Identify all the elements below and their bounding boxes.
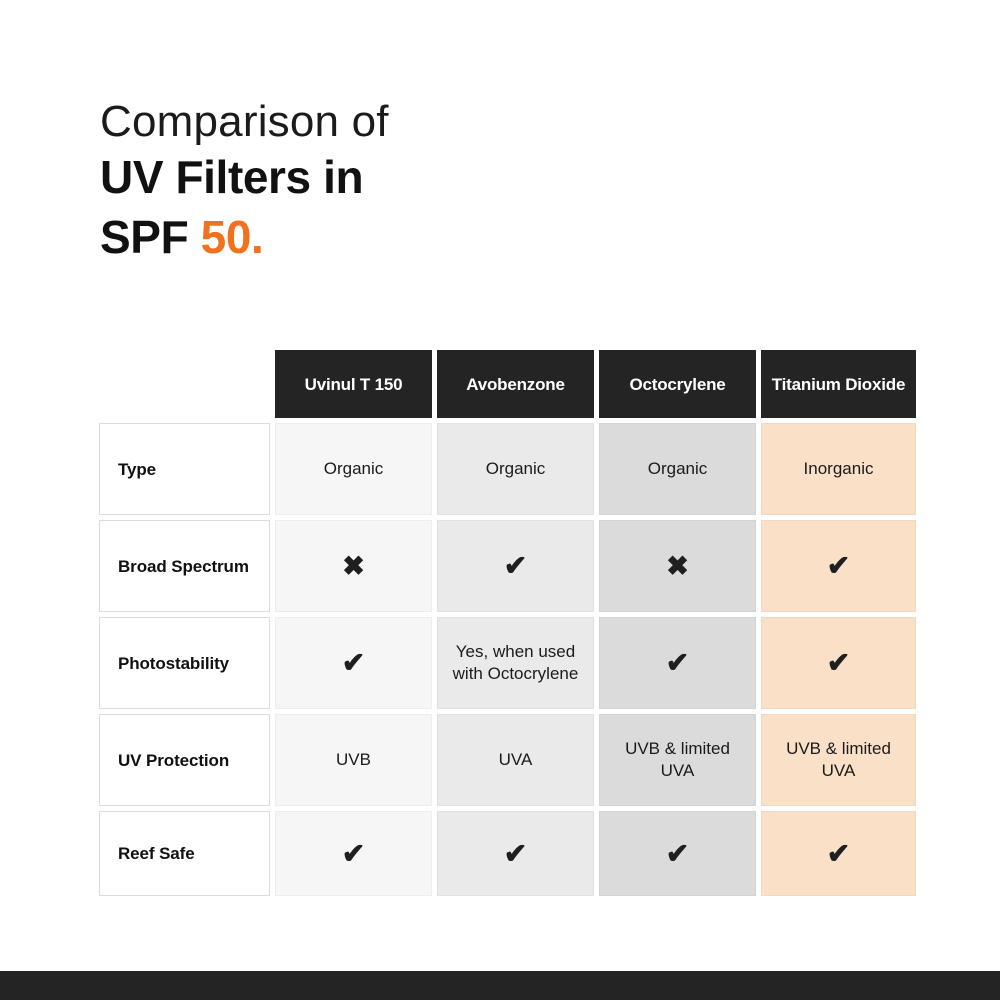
check-icon: ✔ xyxy=(504,840,527,868)
row-label-photostability: Photostability xyxy=(99,617,270,709)
check-icon: ✔ xyxy=(342,840,365,868)
cell-broad-spectrum-titanium-dioxide: ✔ xyxy=(761,520,916,612)
cross-icon: ✖ xyxy=(342,553,365,580)
bottom-bar xyxy=(0,971,1000,1000)
cell-reef-safe-uvinul-t-150: ✔ xyxy=(275,811,432,896)
check-icon: ✔ xyxy=(827,840,850,868)
page-title-spf-label: SPF xyxy=(100,211,201,263)
cell-reef-safe-octocrylene: ✔ xyxy=(599,811,756,896)
uv-filter-comparison-table: Uvinul T 150 Avobenzone Octocrylene Tita… xyxy=(99,350,901,896)
cross-icon: ✖ xyxy=(666,553,689,580)
check-icon: ✔ xyxy=(666,649,689,677)
table-corner-cell xyxy=(99,350,270,418)
column-header-octocrylene: Octocrylene xyxy=(599,350,756,418)
cell-uv-protection-titanium-dioxide: UVB & limited UVA xyxy=(761,714,916,806)
page-title-spf-value: 50. xyxy=(201,211,264,263)
column-header-titanium-dioxide: Titanium Dioxide xyxy=(761,350,916,418)
check-icon: ✔ xyxy=(827,649,850,677)
row-label-reef-safe: Reef Safe xyxy=(99,811,270,896)
check-icon: ✔ xyxy=(666,840,689,868)
cell-type-uvinul-t-150: Organic xyxy=(275,423,432,515)
cell-reef-safe-titanium-dioxide: ✔ xyxy=(761,811,916,896)
cell-uv-protection-uvinul-t-150: UVB xyxy=(275,714,432,806)
column-header-avobenzone: Avobenzone xyxy=(437,350,594,418)
cell-photostability-titanium-dioxide: ✔ xyxy=(761,617,916,709)
cell-uv-protection-avobenzone: UVA xyxy=(437,714,594,806)
cell-photostability-avobenzone: Yes, when used with Octocrylene xyxy=(437,617,594,709)
page-title-line-2: UV Filters in xyxy=(100,148,800,207)
cell-uv-protection-octocrylene: UVB & limited UVA xyxy=(599,714,756,806)
cell-photostability-uvinul-t-150: ✔ xyxy=(275,617,432,709)
page-title-line-3: SPF 50. xyxy=(100,208,800,267)
cell-broad-spectrum-uvinul-t-150: ✖ xyxy=(275,520,432,612)
table-grid: Uvinul T 150 Avobenzone Octocrylene Tita… xyxy=(99,350,901,896)
row-label-broad-spectrum: Broad Spectrum xyxy=(99,520,270,612)
cell-type-titanium-dioxide: Inorganic xyxy=(761,423,916,515)
row-label-uv-protection: UV Protection xyxy=(99,714,270,806)
check-icon: ✔ xyxy=(342,649,365,677)
cell-reef-safe-avobenzone: ✔ xyxy=(437,811,594,896)
row-label-type: Type xyxy=(99,423,270,515)
page-title-line-1: Comparison of xyxy=(100,96,800,148)
page-title: Comparison of UV Filters in SPF 50. xyxy=(100,96,800,267)
check-icon: ✔ xyxy=(504,552,527,580)
cell-broad-spectrum-octocrylene: ✖ xyxy=(599,520,756,612)
cell-type-octocrylene: Organic xyxy=(599,423,756,515)
cell-broad-spectrum-avobenzone: ✔ xyxy=(437,520,594,612)
column-header-uvinul-t-150: Uvinul T 150 xyxy=(275,350,432,418)
cell-type-avobenzone: Organic xyxy=(437,423,594,515)
check-icon: ✔ xyxy=(827,552,850,580)
cell-photostability-octocrylene: ✔ xyxy=(599,617,756,709)
